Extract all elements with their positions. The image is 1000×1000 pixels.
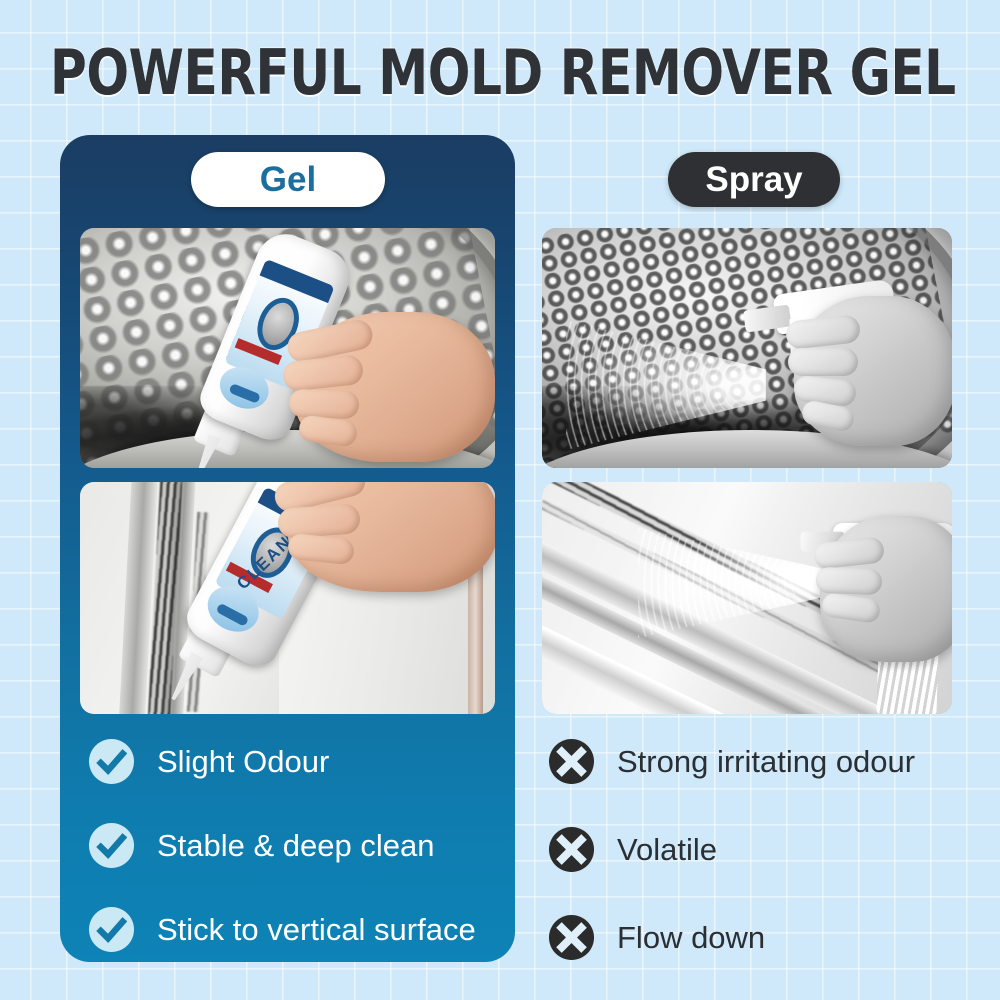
feature-label: Stable & deep clean <box>157 830 435 861</box>
badge-spray: Spray <box>668 152 840 207</box>
x-circle-icon <box>548 738 595 785</box>
feature-label: Stick to vertical surface <box>157 914 476 945</box>
photo-gel-drum: CLEANER <box>80 228 495 468</box>
x-circle-icon <box>548 914 595 961</box>
spray-feature-list: Strong irritating odour Volatile Flow do… <box>548 736 968 1000</box>
list-item: Volatile <box>548 824 968 874</box>
hand-holding-spray <box>794 296 952 446</box>
finger-middle <box>816 567 883 595</box>
list-item: Strong irritating odour <box>548 736 968 786</box>
list-item: Stable & deep clean <box>88 820 508 870</box>
hand-holding-spray <box>820 516 952 662</box>
x-circle-icon <box>548 826 595 873</box>
badge-gel-label: Gel <box>260 162 316 197</box>
list-item: Flow down <box>548 912 968 962</box>
photo-spray-drum <box>542 228 952 468</box>
feature-label: Slight Odour <box>157 746 329 777</box>
feature-label: Volatile <box>617 834 717 865</box>
finger-ring <box>289 389 360 419</box>
list-item: Slight Odour <box>88 736 508 786</box>
list-item: Stick to vertical surface <box>88 904 508 954</box>
check-circle-icon <box>88 738 135 785</box>
check-circle-icon <box>88 906 135 953</box>
page-title: POWERFUL MOLD REMOVER GEL <box>50 36 950 109</box>
product-comparison-infographic: POWERFUL MOLD REMOVER GEL Gel Spray <box>0 0 1000 1000</box>
feature-label: Strong irritating odour <box>617 746 915 777</box>
finger-middle <box>788 348 858 376</box>
finger-middle <box>277 503 361 539</box>
hand-holding-bottle <box>288 482 495 592</box>
check-circle-icon <box>88 822 135 869</box>
photo-gel-seal: CLEANER <box>80 482 495 714</box>
badge-gel: Gel <box>191 152 385 207</box>
feature-label: Flow down <box>617 922 765 953</box>
hand-holding-bottle <box>295 312 495 462</box>
photo-spray-seal <box>542 482 952 714</box>
gel-feature-list: Slight Odour Stable & deep clean Stick t… <box>88 736 508 988</box>
badge-spray-label: Spray <box>705 162 802 197</box>
